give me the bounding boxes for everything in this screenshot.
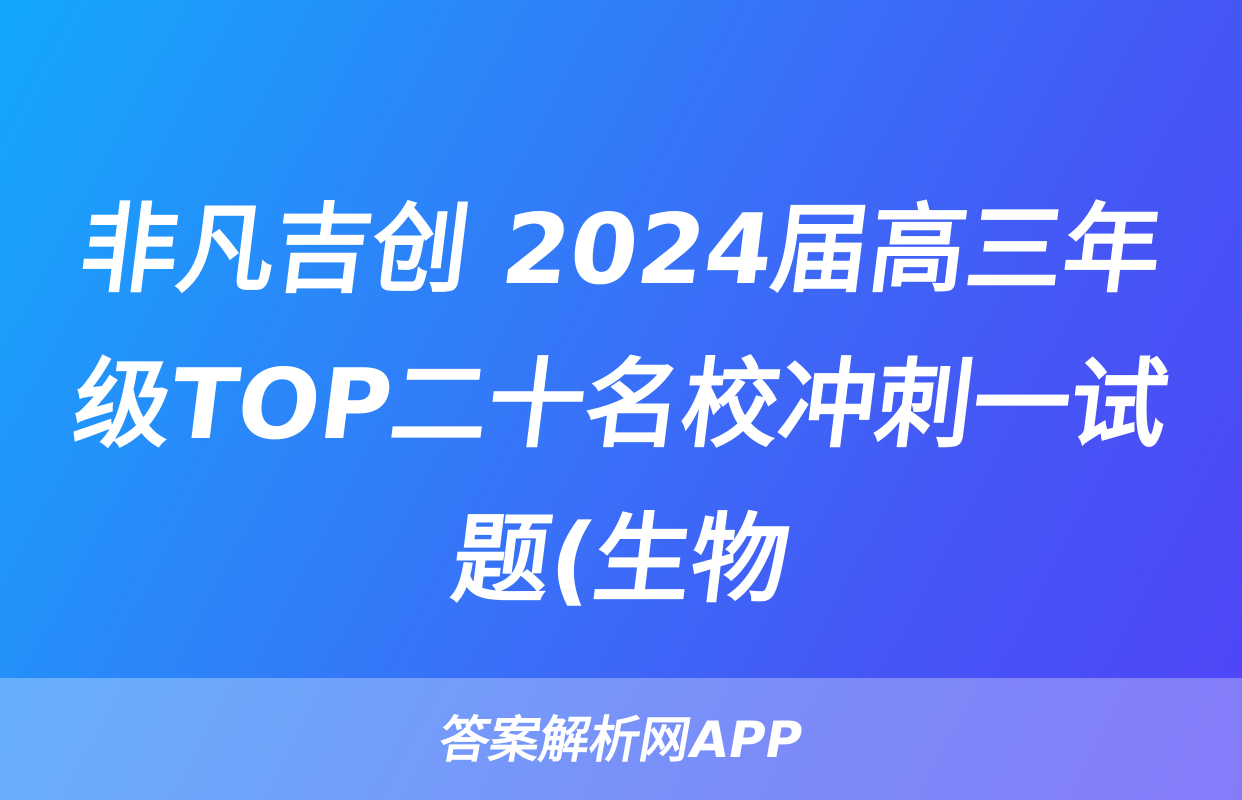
- watermark-band: 答案解析网APP: [0, 678, 1242, 800]
- cover-image: 非凡吉创 2024届高三年 级TOP二十名校冲刺一试 题(生物 答案解析网APP: [0, 0, 1242, 800]
- title-line-3: 题(生物: [62, 482, 1179, 637]
- watermark-label: 答案解析网APP: [436, 715, 807, 765]
- title-line-1: 非凡吉创 2024届高三年: [62, 172, 1179, 327]
- page-title: 非凡吉创 2024届高三年 级TOP二十名校冲刺一试 题(生物: [0, 172, 1242, 637]
- title-line-2: 级TOP二十名校冲刺一试: [62, 327, 1179, 482]
